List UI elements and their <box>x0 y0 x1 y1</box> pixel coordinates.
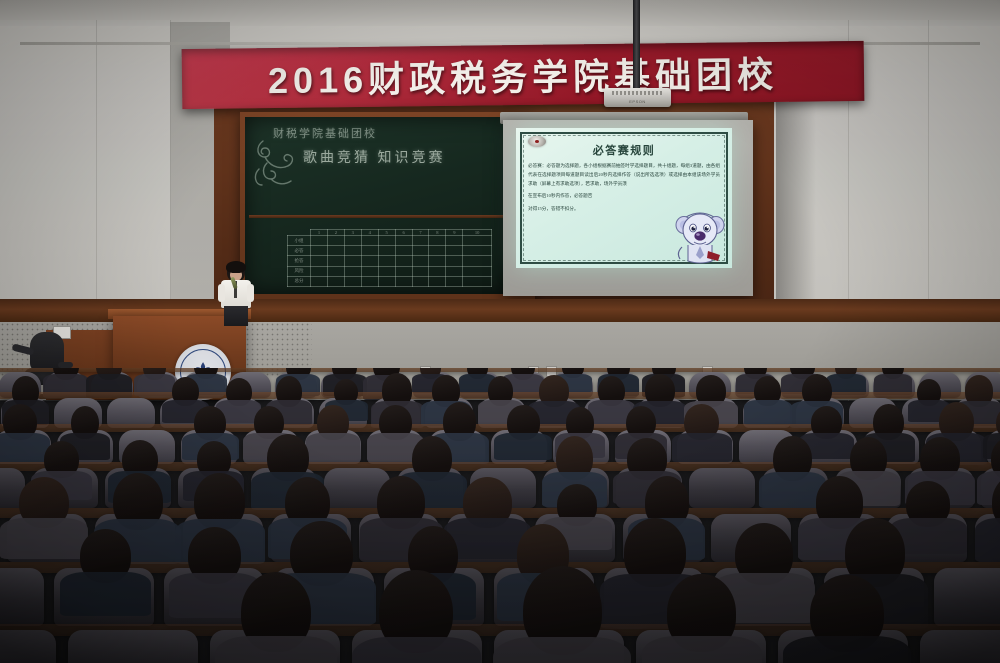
grid-row: 总分 <box>288 276 492 286</box>
grid-cell <box>395 236 412 246</box>
grid-cell <box>361 256 378 266</box>
student-body <box>352 637 482 663</box>
blackboard-line-2: 歌曲竞猜 知识竞赛 <box>303 147 446 167</box>
chalk-floral-ornament-icon <box>251 135 311 197</box>
grid-cell <box>429 276 446 286</box>
grid-cell <box>378 266 395 276</box>
grid-row: 抢答 <box>288 256 492 266</box>
audience-area <box>0 368 1000 663</box>
slide-paragraph: 必答赛：必答题为选择题，各小组根据赛前抽签时学选择题目，共十组题，每组3道题，由… <box>528 162 720 189</box>
score-table: 12345678910 小组必答抢答风险总分 <box>287 229 492 287</box>
grid-cell <box>412 266 429 276</box>
grid-cell <box>429 236 446 246</box>
grid-cell <box>344 276 361 286</box>
grid-cell <box>378 256 395 266</box>
slide-title: 必答赛规则 <box>516 142 732 158</box>
speaker-hair <box>226 261 246 273</box>
grid-cell <box>311 236 328 246</box>
grid-cell <box>327 256 344 266</box>
lecture-hall-photo: 2016财政税务学院基础团校 EPSON 财税学院基础团校 歌曲竞猜 知识竞赛 <box>0 0 1000 663</box>
grid-cell <box>327 246 344 256</box>
student-body <box>0 518 88 559</box>
grid-row-label: 小组 <box>288 236 311 246</box>
slide-paragraph: 在宣布后10秒内作答，必答题否 <box>528 192 720 201</box>
blackboard-frame: 财税学院基础团校 歌曲竞猜 知识竞赛 12345678910 小组必答抢答风险总… <box>240 112 535 309</box>
speaker-arm-left <box>218 284 225 302</box>
grid-cell <box>412 246 429 256</box>
grid-cell <box>344 246 361 256</box>
auditorium-seat <box>0 568 44 626</box>
grid-cell <box>361 276 378 286</box>
grid-cell <box>412 256 429 266</box>
grid-cell <box>446 246 463 256</box>
grid-cell <box>378 276 395 286</box>
grid-cell <box>463 246 492 256</box>
grid-cell <box>344 236 361 246</box>
student-body <box>744 400 792 424</box>
grid-cell <box>429 266 446 276</box>
grid-cell <box>311 266 328 276</box>
grid-row-label: 总分 <box>288 276 311 286</box>
blackboard-line-1: 财税学院基础团校 <box>273 125 377 141</box>
banner-text: 2016财政税务学院基础团校 <box>182 41 865 109</box>
grid-row: 必答 <box>288 246 492 256</box>
auditorium-seat <box>689 468 755 508</box>
student-body <box>975 518 1000 562</box>
grid-row-label: 风险 <box>288 266 311 276</box>
grid-cell <box>446 236 463 246</box>
grid-cell <box>429 256 446 266</box>
student-body <box>60 572 150 615</box>
blackboard-score-grid: 12345678910 小组必答抢答风险总分 <box>287 229 492 287</box>
grid-cell <box>463 276 492 286</box>
ceiling-projector: EPSON <box>604 88 671 107</box>
projector-mount-pole <box>633 0 640 92</box>
grid-cell <box>361 246 378 256</box>
projector-vent <box>612 91 662 95</box>
grid-row-label: 必答 <box>288 246 311 256</box>
projection-screen: 必答赛规则 必答赛：必答题为选择题，各小组根据赛前抽签时学选择题目，共十组题，每… <box>503 120 753 296</box>
grid-row: 风险 <box>288 266 492 276</box>
student-body <box>642 636 762 663</box>
koala-mascot-icon <box>674 203 726 265</box>
speaker-presenter <box>216 262 256 324</box>
grid-cell <box>344 266 361 276</box>
grid-cell <box>463 236 492 246</box>
grid-row-label: 抢答 <box>288 256 311 266</box>
score-table-body: 小组必答抢答风险总分 <box>288 236 492 287</box>
grid-cell <box>463 266 492 276</box>
grid-cell <box>463 256 492 266</box>
grid-row: 小组 <box>288 236 492 246</box>
grid-cell <box>412 236 429 246</box>
grid-cell <box>327 266 344 276</box>
grid-cell <box>344 256 361 266</box>
grid-cell <box>311 256 328 266</box>
grid-cell <box>395 256 412 266</box>
student-body <box>672 433 732 462</box>
grid-cell <box>395 266 412 276</box>
grid-cell <box>446 256 463 266</box>
auditorium-seat <box>68 630 198 663</box>
grid-cell <box>327 276 344 286</box>
grid-cell <box>446 266 463 276</box>
student-body <box>0 433 50 462</box>
speaker-arm-right <box>247 284 254 302</box>
grid-cell <box>412 276 429 286</box>
projector-brand-label: EPSON <box>604 99 671 104</box>
event-banner: 2016财政税务学院基础团校 <box>182 41 865 109</box>
presentation-slide: 必答赛规则 必答赛：必答题为选择题，各小组根据赛前抽签时学选择题目，共十组题，每… <box>516 128 732 268</box>
auditorium-seat <box>920 630 1000 663</box>
grid-cell <box>311 276 328 286</box>
grid-cell <box>378 246 395 256</box>
grid-cell <box>311 246 328 256</box>
grid-cell <box>429 246 446 256</box>
blackboard: 财税学院基础团校 歌曲竞猜 知识竞赛 12345678910 小组必答抢答风险总… <box>245 117 520 294</box>
grid-cell <box>395 276 412 286</box>
student-body <box>783 636 911 663</box>
grid-cell <box>446 276 463 286</box>
auditorium-seat <box>934 568 1000 626</box>
grid-cell <box>361 236 378 246</box>
student-body <box>215 636 337 663</box>
grid-cell <box>327 236 344 246</box>
student-body <box>306 433 361 461</box>
blackboard-divider <box>249 215 516 218</box>
speaker-legs <box>224 306 248 326</box>
grid-cell <box>378 236 395 246</box>
student-body <box>493 637 632 663</box>
auditorium-seat <box>0 630 56 663</box>
grid-cell <box>395 246 412 256</box>
student-body <box>494 433 552 460</box>
grid-cell <box>361 266 378 276</box>
